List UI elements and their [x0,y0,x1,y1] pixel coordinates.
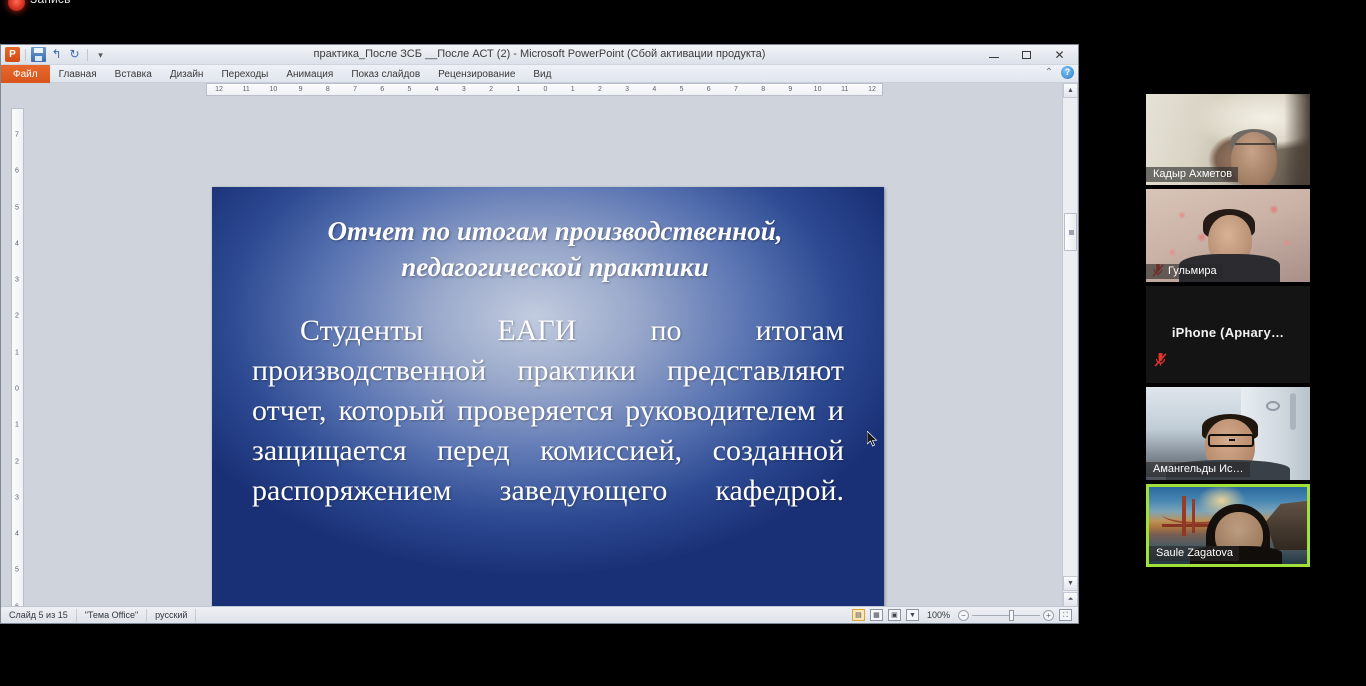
redo-icon[interactable]: ↻ [67,47,82,62]
powerpoint-logo-icon: P [5,47,20,62]
participant-name: Кадыр Ахметов [1146,167,1238,182]
powerpoint-window: P ↰ ↻ ▾ практика_После ЗСБ __После АСТ (… [0,44,1079,624]
save-icon[interactable] [31,47,46,62]
vertical-ruler: 765432101234567 [11,108,24,623]
ruler-tick: 2 [598,86,602,93]
divider [87,49,88,61]
ruler-tick: 4 [652,86,656,93]
tab-transitions[interactable]: Переходы [212,65,277,83]
horizontal-ruler: 1211109876543210123456789101112 [206,83,883,96]
title-bar[interactable]: P ↰ ↻ ▾ практика_После ЗСБ __После АСТ (… [1,45,1078,65]
divider [25,49,26,61]
slide-title-line-2: педагогической практики [252,249,858,285]
ruler-tick: 4 [435,86,439,93]
mouse-cursor-icon [867,431,878,447]
ruler-tick: 3 [462,86,466,93]
ruler-tick: 12 [868,86,876,93]
ruler-tick: 10 [814,86,822,93]
ruler-tick: 3 [625,86,629,93]
scrollbar-thumb[interactable] [1064,213,1077,251]
participant-name: Гульмира [1146,264,1223,279]
help-icon[interactable]: ? [1061,66,1074,79]
ruler-tick: 9 [788,86,792,93]
scroll-up-button[interactable]: ▲ [1063,83,1078,98]
ruler-tick: 11 [841,86,848,93]
ruler-tick: 6 [380,86,384,93]
ruler-tick: 4 [15,240,19,247]
scroll-down-button[interactable]: ▼ [1063,576,1078,591]
ruler-tick: 5 [408,86,412,93]
slide-counter[interactable]: Слайд 5 из 15 [1,609,77,622]
recording-bar: Запись [0,0,1366,14]
ruler-tick: 3 [15,494,19,501]
tab-view[interactable]: Вид [524,65,560,83]
ruler-tick: 6 [707,86,711,93]
tab-animations[interactable]: Анимация [277,65,342,83]
ruler-tick: 9 [299,86,303,93]
participant-tile-active-speaker[interactable]: Saule Zagatova [1146,484,1310,567]
ruler-tick: 2 [489,86,493,93]
ruler-tick: 1 [15,422,19,429]
ruler-tick: 5 [15,567,19,574]
ruler-tick: 8 [326,86,330,93]
ribbon-right-controls: ⌃ ? [1043,66,1074,79]
slideshow-view-button[interactable]: ▼ [906,609,919,621]
participant-tile[interactable]: iPhone (Арнагу… [1146,286,1310,383]
ruler-tick: 11 [243,86,250,93]
minimize-button[interactable] [977,45,1010,64]
ruler-tick: 7 [15,132,19,139]
theme-name[interactable]: "Тема Office" [77,609,147,622]
participant-tile[interactable]: Амангельды Ис… [1146,387,1310,480]
microphone-muted-icon [1154,353,1167,367]
undo-icon[interactable]: ↰ [49,47,64,62]
slide-title-placeholder[interactable]: Отчет по итогам производственной, педаго… [252,213,858,286]
video-participants-panel: Кадыр Ахметов Гульмира iPhone (Арнагу… [1146,94,1310,571]
slide-surface[interactable]: Отчет по итогам производственной, педаго… [212,187,884,623]
zoom-in-button[interactable]: + [1043,610,1054,621]
customize-quick-access-icon[interactable]: ▾ [93,47,108,62]
normal-view-button[interactable]: ▤ [852,609,865,621]
tab-insert[interactable]: Вставка [106,65,161,83]
participant-name: Saule Zagatova [1149,546,1239,561]
participant-tile[interactable]: Гульмира [1146,189,1310,282]
zoom-slider[interactable]: − + [958,610,1054,621]
tab-home[interactable]: Главная [50,65,106,83]
tab-slideshow[interactable]: Показ слайдов [342,65,429,83]
window-controls: ✕ [977,45,1076,65]
participant-name: iPhone (Арнагу… [1146,325,1310,340]
quick-access-toolbar: P ↰ ↻ ▾ [5,47,108,62]
ruler-tick: 2 [15,458,19,465]
fit-slide-to-window-button[interactable]: ⛶ [1059,609,1072,621]
ruler-tick: 4 [15,531,19,538]
slide-editing-area: 1211109876543210123456789101112 76543210… [1,83,1078,623]
language-indicator[interactable]: русский [147,609,196,622]
ruler-tick: 0 [15,386,19,393]
ruler-tick: 10 [270,86,278,93]
slide-body-placeholder[interactable]: Студенты ЕАГИ по итогам производственной… [252,311,844,510]
close-button[interactable]: ✕ [1043,45,1076,64]
ribbon-tabs: Файл Главная Вставка Дизайн Переходы Ани… [1,65,1078,83]
ruler-tick: 1 [15,349,19,356]
slide-title-line-1: Отчет по итогам производственной, [252,213,858,249]
zoom-out-button[interactable]: − [958,610,969,621]
ruler-tick: 7 [734,86,738,93]
slide-sorter-view-button[interactable]: ▦ [870,609,883,621]
tab-design[interactable]: Дизайн [161,65,213,83]
window-title: практика_После ЗСБ __После АСТ (2) - Mic… [1,48,1078,60]
status-bar-right: ▤ ▦ ▣ ▼ 100% − + ⛶ [852,609,1078,621]
ruler-tick: 2 [15,313,19,320]
ruler-tick: 1 [571,86,575,93]
restore-button[interactable] [1010,45,1043,64]
ruler-tick: 7 [353,86,357,93]
status-bar: Слайд 5 из 15 "Тема Office" русский ▤ ▦ … [1,606,1078,623]
ruler-tick: 5 [680,86,684,93]
slide-canvas[interactable]: Отчет по итогам производственной, педаго… [212,187,884,623]
ruler-tick: 12 [215,86,223,93]
ruler-tick: 8 [761,86,765,93]
ruler-tick: 6 [15,168,19,175]
reading-view-button[interactable]: ▣ [888,609,901,621]
previous-slide-button[interactable]: ⏶ [1063,592,1078,607]
ruler-tick: 1 [516,86,520,93]
collapse-ribbon-icon[interactable]: ⌃ [1043,67,1055,79]
tab-review[interactable]: Рецензирование [429,65,524,83]
vertical-scrollbar[interactable]: ▲ ▼ ⏶ ⏷ [1062,83,1077,623]
ruler-tick: 5 [15,204,19,211]
participant-name: Амангельды Ис… [1146,462,1250,477]
screen: Запись P ↰ ↻ ▾ практика_После ЗСБ __Посл… [0,0,1366,686]
participant-tile[interactable]: Кадыр Ахметов [1146,94,1310,185]
ruler-tick: 0 [544,86,548,93]
record-dot-icon [8,0,25,11]
recording-label: Запись [30,0,71,6]
zoom-slider-knob[interactable] [1009,610,1014,621]
tab-file[interactable]: Файл [1,65,50,83]
zoom-slider-track[interactable] [972,615,1040,616]
ribbon-tab-bar: Файл Главная Вставка Дизайн Переходы Ани… [1,65,1078,83]
ruler-tick: 3 [15,277,19,284]
zoom-level-label[interactable]: 100% [924,610,953,620]
